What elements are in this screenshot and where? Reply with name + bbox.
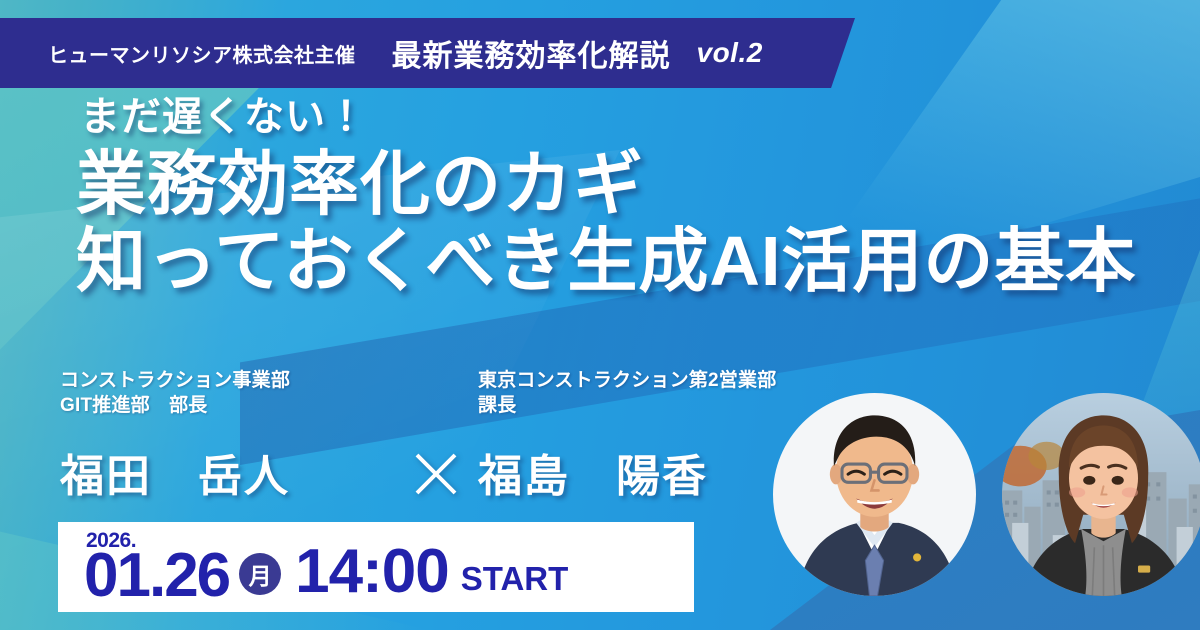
header-ribbon: ヒューマンリソシア株式会社主催 最新業務効率化解説 vol.2 [0, 18, 855, 88]
start-label: START [461, 560, 569, 598]
speaker-block-1: コンストラクション事業部 GIT推進部 部長 福田 岳人 [60, 368, 398, 504]
speaker-1-affiliation-line-1: コンストラクション事業部 [60, 368, 398, 393]
date-stack: 2026. 01.26 [84, 530, 229, 604]
speaker-2-affiliation-line-2: 課長 [478, 393, 838, 418]
speaker-1-photo [773, 393, 976, 596]
speaker-1-name: 福田 岳人 [60, 440, 398, 504]
speaker-2-affiliation-line-1: 東京コンストラクション第2営業部 [478, 368, 838, 393]
headline-kicker: まだ遅くない！ [80, 96, 1200, 138]
speaker-1-affiliation-line-2: GIT推進部 部長 [60, 393, 398, 418]
start-time: 14:00 [295, 545, 449, 600]
speaker-separator [398, 368, 474, 498]
weekday-badge: 月 [239, 553, 281, 595]
speakers-row: コンストラクション事業部 GIT推進部 部長 福田 岳人 東京コンストラクション… [60, 368, 838, 504]
headline-block: まだ遅くない！ 業務効率化のカギ 知っておくべき生成AI活用の基本 [0, 96, 1200, 298]
volume-label: vol.2 [697, 37, 763, 69]
headline-line-1: 業務効率化のカギ [76, 148, 1200, 221]
seminar-banner: ヒューマンリソシア株式会社主催 最新業務効率化解説 vol.2 まだ遅くない！ … [0, 0, 1200, 630]
headline-line-2: 知っておくべき生成AI活用の基本 [76, 225, 1200, 298]
speaker-1-portrait-illustration [773, 393, 976, 596]
series-title: 最新業務効率化解説 [392, 31, 671, 75]
host-company-name: ヒューマンリソシア株式会社主催 [48, 39, 356, 68]
schedule-bar: 2026. 01.26 月 14:00 START [58, 522, 694, 612]
month-day-label: 01.26 [84, 549, 229, 604]
speaker-2-photo [1002, 393, 1200, 596]
speaker-2-portrait-illustration [1002, 393, 1200, 596]
cross-icon [412, 450, 460, 498]
